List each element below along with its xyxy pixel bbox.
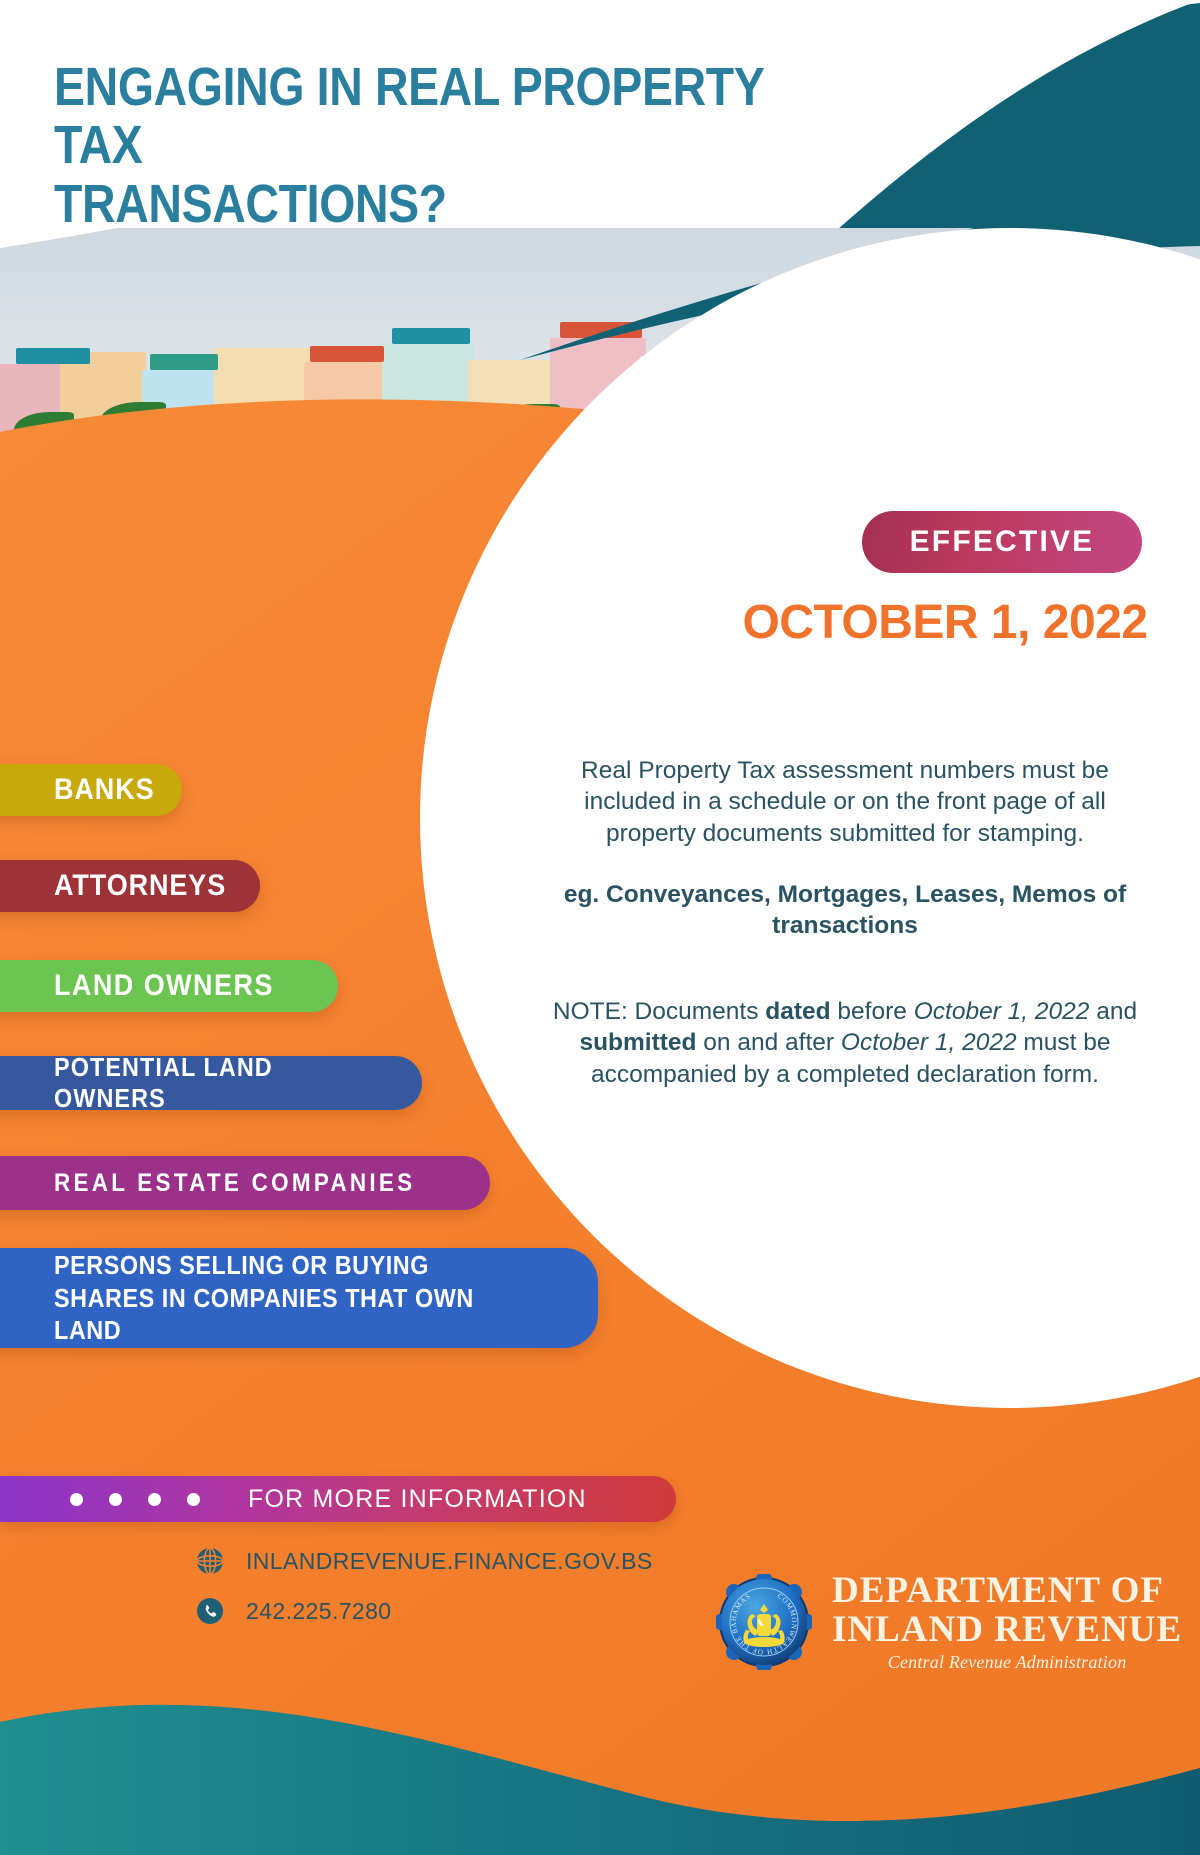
audience-pill-attorneys: ATTORNEYS <box>0 860 260 912</box>
copy-block: Real Property Tax assessment numbers mus… <box>540 755 1150 1090</box>
phone-icon <box>196 1597 224 1625</box>
phone-row[interactable]: 242.225.7280 <box>196 1586 653 1636</box>
note-part-3: and <box>1089 998 1137 1025</box>
audience-pill-potential-land-owners: POTENTIAL LAND OWNERS <box>0 1056 422 1110</box>
effective-date: OCTOBER 1, 2022 <box>735 595 1155 650</box>
note-bold-submitted: submitted <box>579 1029 696 1056</box>
more-info-bar: FOR MORE INFORMATION <box>0 1476 676 1522</box>
audience-pill-real-estate-companies: REAL ESTATE COMPANIES <box>0 1156 490 1210</box>
requirement-text: Real Property Tax assessment numbers mus… <box>540 755 1150 849</box>
audience-pill-potential-land-owners-label: POTENTIAL LAND OWNERS <box>54 1052 385 1114</box>
note-text: NOTE: Documents dated before October 1, … <box>540 996 1150 1090</box>
audience-pill-land-owners-label: LAND OWNERS <box>54 969 274 1003</box>
globe-icon <box>196 1547 224 1575</box>
website-text: INLANDREVENUE.FINANCE.GOV.BS <box>246 1548 653 1575</box>
dot-2 <box>109 1493 122 1506</box>
logo-line-2: INLAND REVENUE <box>832 1611 1182 1648</box>
bahamas-seal-icon: COMMONWEALTH OF THE BAHAMAS <box>716 1574 812 1670</box>
headline-line-2: TRANSACTIONS? <box>54 175 768 233</box>
website-row[interactable]: INLANDREVENUE.FINANCE.GOV.BS <box>196 1536 653 1586</box>
examples-text: eg. Conveyances, Mortgages, Leases, Memo… <box>540 879 1150 942</box>
audience-pill-real-estate-companies-label: REAL ESTATE COMPANIES <box>54 1169 415 1198</box>
audience-pill-share-transactions-label: PERSONS SELLING OR BUYING SHARES IN COMP… <box>54 1249 522 1347</box>
decorative-dots <box>70 1493 200 1506</box>
note-bold-dated: dated <box>765 998 830 1025</box>
dot-3 <box>148 1493 161 1506</box>
more-info-label: FOR MORE INFORMATION <box>248 1485 587 1514</box>
headline-line-1: ENGAGING IN REAL PROPERTY TAX <box>54 58 768 175</box>
contact-block: INLANDREVENUE.FINANCE.GOV.BS 242.225.728… <box>196 1536 653 1636</box>
note-part-4: on and after <box>697 1029 841 1056</box>
audience-pill-banks-label: BANKS <box>54 773 155 807</box>
effective-badge-label: EFFECTIVE <box>910 525 1095 559</box>
logo-line-1: DEPARTMENT OF <box>832 1572 1182 1609</box>
department-logotype: DEPARTMENT OF INLAND REVENUE Central Rev… <box>832 1572 1182 1671</box>
department-logo: COMMONWEALTH OF THE BAHAMAS <box>716 1572 1182 1671</box>
phone-text: 242.225.7280 <box>246 1598 392 1625</box>
page-title: ENGAGING IN REAL PROPERTY TAX TRANSACTIO… <box>54 58 768 233</box>
dot-4 <box>187 1493 200 1506</box>
note-italic-date-1: October 1, 2022 <box>914 998 1090 1025</box>
audience-pill-attorneys-label: ATTORNEYS <box>54 869 226 903</box>
note-italic-date-2: October 1, 2022 <box>841 1029 1017 1056</box>
audience-pill-share-transactions: PERSONS SELLING OR BUYING SHARES IN COMP… <box>0 1248 598 1348</box>
audience-pill-land-owners: LAND OWNERS <box>0 960 338 1012</box>
note-part-2: before <box>831 998 914 1025</box>
audience-pill-banks: BANKS <box>0 764 182 816</box>
logo-line-3: Central Revenue Administration <box>832 1653 1182 1671</box>
dot-1 <box>70 1493 83 1506</box>
poster-root: ENGAGING IN REAL PROPERTY TAX TRANSACTIO… <box>0 0 1200 1855</box>
effective-badge: EFFECTIVE <box>862 511 1142 573</box>
note-part-1: NOTE: Documents <box>553 998 765 1025</box>
